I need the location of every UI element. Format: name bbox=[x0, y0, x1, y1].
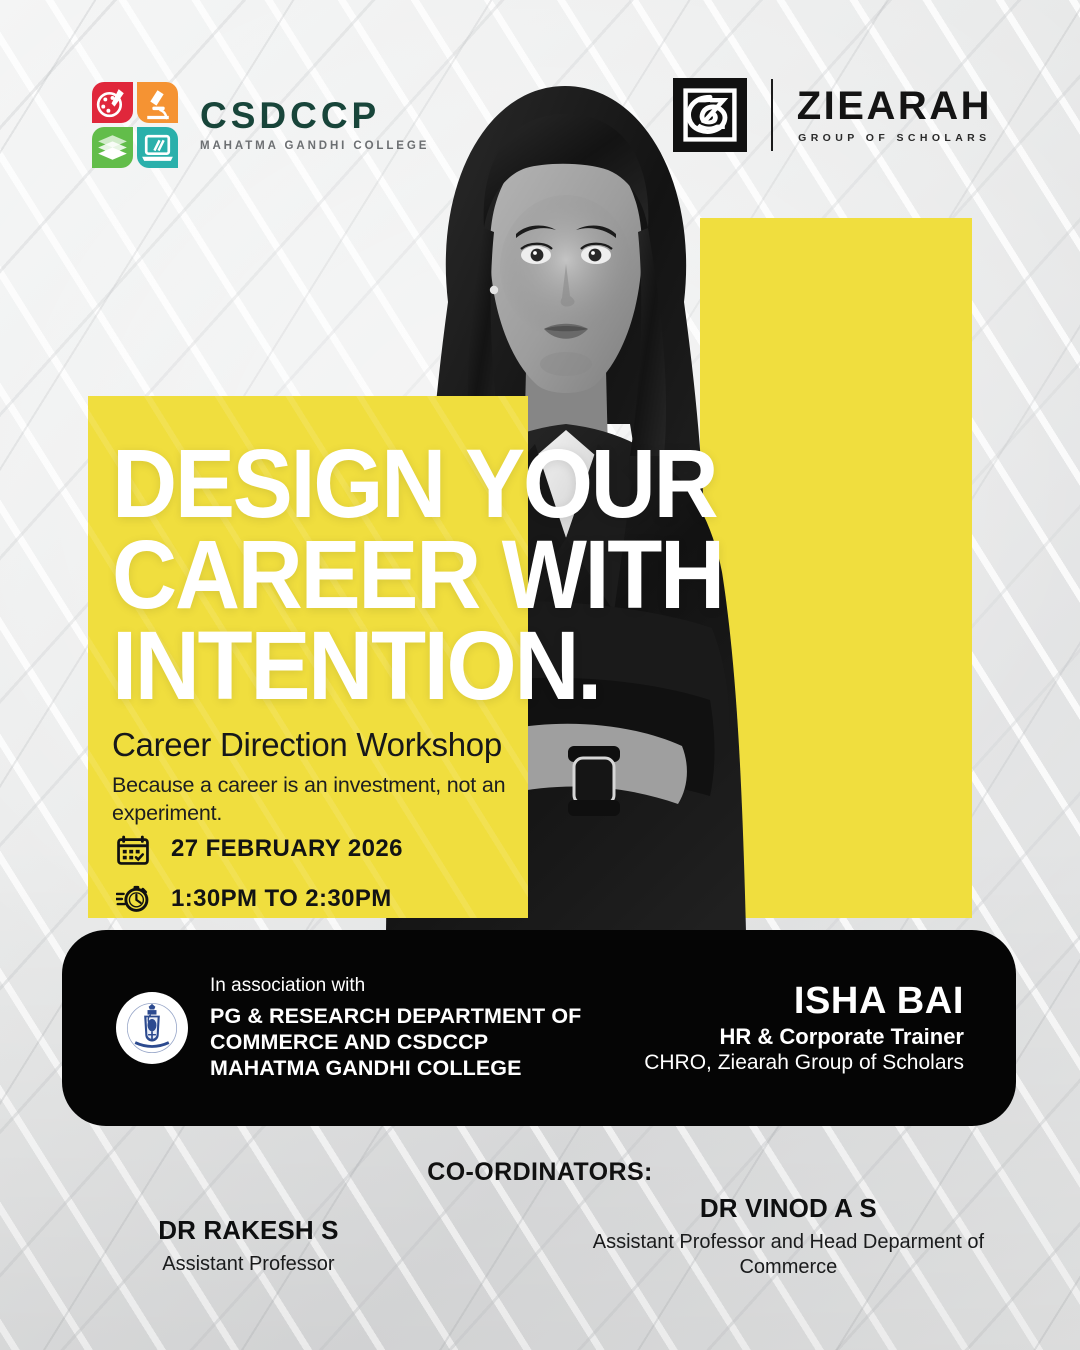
coordinators-list: DR RAKESH S Assistant Professor DR VINOD… bbox=[0, 1215, 1080, 1280]
books-stack-icon bbox=[92, 127, 133, 168]
mahatma-gandhi-college-seal bbox=[116, 992, 188, 1064]
speaker-role: HR & Corporate Trainer bbox=[644, 1025, 964, 1049]
subtitle-block: Career Direction Workshop Because a care… bbox=[112, 728, 532, 828]
microscope-icon bbox=[137, 82, 178, 123]
csdccp-brand-name: CSDCCP bbox=[200, 97, 429, 134]
coordinator-role: Assistant Professor and Head Deparment o… bbox=[573, 1230, 1003, 1280]
event-time-row: 1:30PM TO 2:30PM bbox=[116, 882, 403, 916]
page-title: DESIGN YOUR CAREER WITH INTENTION. bbox=[112, 438, 763, 712]
headline-line-1: DESIGN YOUR bbox=[112, 438, 763, 529]
headline-line-3: INTENTION. bbox=[112, 620, 763, 711]
association-banner: In association with PG & RESEARCH DEPART… bbox=[62, 930, 1016, 1126]
event-time-text: 1:30PM TO 2:30PM bbox=[171, 885, 392, 913]
association-prefix: In association with bbox=[210, 975, 581, 997]
palette-icon bbox=[92, 82, 133, 123]
event-date-text: 27 FEBRUARY 2026 bbox=[171, 835, 403, 863]
ziearah-name: ZIEARAH bbox=[797, 86, 992, 126]
csdccp-logo: CSDCCP MAHATMA GANDHI COLLEGE bbox=[92, 82, 429, 168]
poster-canvas: CSDCCP MAHATMA GANDHI COLLEGE ZIEARAH GR… bbox=[0, 0, 1080, 1350]
association-line-3: MAHATMA GANDHI COLLEGE bbox=[210, 1055, 581, 1081]
speaker-block: ISHA BAI HR & Corporate Trainer CHRO, Zi… bbox=[644, 982, 978, 1074]
association-line-2: COMMERCE AND CSDCCP bbox=[210, 1029, 581, 1055]
association-line-1: PG & RESEARCH DEPARTMENT OF bbox=[210, 1003, 581, 1029]
coordinator-item: DR RAKESH S Assistant Professor bbox=[0, 1215, 497, 1277]
calendar-icon bbox=[116, 832, 150, 866]
event-date-row: 27 FEBRUARY 2026 bbox=[116, 832, 403, 866]
csdccp-four-tile-logo bbox=[92, 82, 178, 168]
workshop-description: Because a career is an investment, not a… bbox=[112, 772, 532, 828]
association-block: In association with PG & RESEARCH DEPART… bbox=[116, 975, 581, 1082]
laptop-icon bbox=[137, 127, 178, 168]
csdccp-brand-subtitle: MAHATMA GANDHI COLLEGE bbox=[200, 141, 429, 153]
speaker-name: ISHA BAI bbox=[644, 982, 964, 1020]
speaker-organisation: CHRO, Ziearah Group of Scholars bbox=[644, 1051, 964, 1074]
ziearah-spiral-z-mark bbox=[673, 78, 747, 152]
coordinator-item: DR VINOD A S Assistant Professor and Hea… bbox=[497, 1193, 1080, 1280]
coordinator-name: DR VINOD A S bbox=[497, 1193, 1080, 1224]
ziearah-logo: ZIEARAH GROUP OF SCHOLARS bbox=[673, 78, 992, 152]
logo-divider bbox=[771, 79, 773, 151]
event-meta-list: 27 FEBRUARY 2026 1:30PM TO 2:30PM bbox=[116, 832, 403, 932]
coordinators-heading: CO-ORDINATORS: bbox=[0, 1158, 1080, 1187]
workshop-subtitle: Career Direction Workshop bbox=[112, 728, 532, 763]
ziearah-tagline: GROUP OF SCHOLARS bbox=[797, 133, 992, 144]
coordinator-name: DR RAKESH S bbox=[0, 1215, 497, 1246]
headline-line-2: CAREER WITH bbox=[112, 529, 763, 620]
coordinator-role: Assistant Professor bbox=[0, 1252, 497, 1277]
stopwatch-icon bbox=[116, 882, 150, 916]
